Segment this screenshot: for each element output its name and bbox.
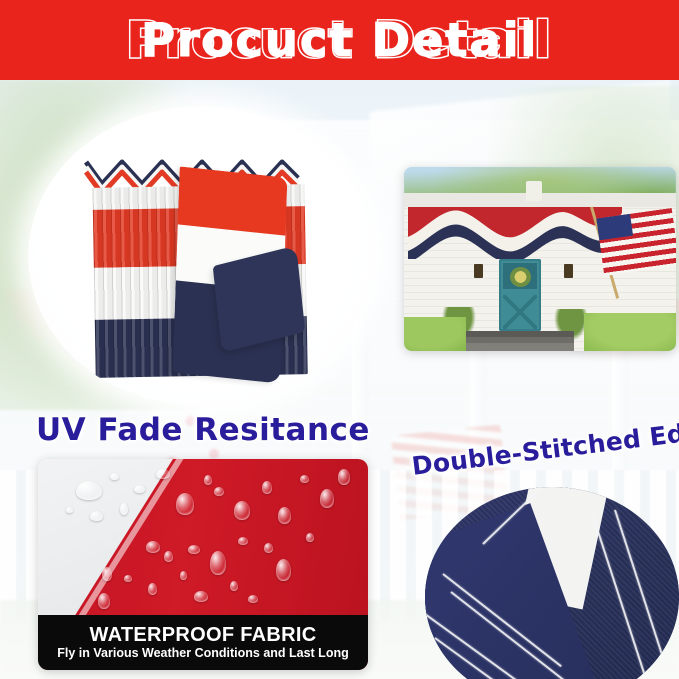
door-wreath bbox=[510, 267, 531, 287]
us-flag bbox=[596, 208, 676, 276]
porch-lantern-left bbox=[474, 264, 483, 278]
door-cross-brace bbox=[503, 295, 537, 329]
house-chimney bbox=[526, 181, 542, 201]
double-stitch-circle-photo bbox=[425, 487, 679, 679]
uv-fade-resistance-label: UV Fade Resitance bbox=[36, 412, 370, 448]
hedge-right bbox=[584, 313, 676, 351]
waterproof-caption-bar: WATERPROOF FABRIC Fly in Various Weather… bbox=[38, 615, 368, 670]
porch-steps bbox=[466, 331, 574, 351]
house-bunting-swag bbox=[408, 207, 622, 259]
page-title: Procuct Detail bbox=[126, 15, 553, 65]
waterproof-caption-title: WATERPROOF FABRIC bbox=[90, 625, 317, 645]
porch-lantern-right bbox=[564, 264, 573, 278]
product-detail-page: Procuct Detail bbox=[0, 0, 679, 679]
hedge-left bbox=[404, 317, 466, 351]
product-oval-photo bbox=[28, 106, 373, 406]
waterproof-fabric-photo: WATERPROOF FABRIC Fly in Various Weather… bbox=[38, 459, 368, 670]
header-banner: Procuct Detail bbox=[0, 0, 679, 80]
house-porch-photo bbox=[404, 167, 676, 351]
waterproof-caption-subtitle: Fly in Various Weather Conditions and La… bbox=[57, 647, 348, 660]
